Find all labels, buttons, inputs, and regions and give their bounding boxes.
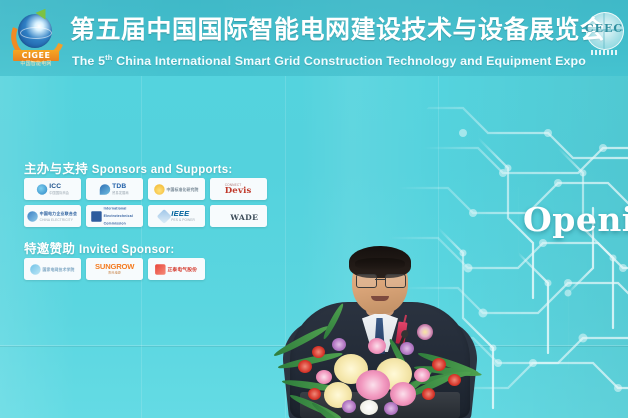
sungrow-label: SUNGROW bbox=[95, 263, 134, 271]
invited-logo-3: 正泰电气股份 bbox=[148, 258, 205, 280]
sponsor-logo-icc: ICC 中国国际商会 bbox=[24, 178, 81, 200]
flower-bloom bbox=[308, 388, 321, 400]
cigee-subtext: 中国智能电网 bbox=[16, 61, 56, 68]
flower-bloom bbox=[298, 360, 312, 373]
flower-bloom bbox=[448, 374, 461, 386]
icc-label: ICC bbox=[49, 183, 61, 191]
sponsor-logo-tdb: TDB 贸易发展局 bbox=[86, 178, 143, 200]
expo-title-ordinal: th bbox=[105, 53, 112, 62]
flower-bloom bbox=[414, 368, 430, 382]
cigee-wordmark: CIGEE bbox=[13, 50, 59, 61]
ieee-diamond-icon bbox=[156, 209, 171, 224]
sponsor-logo-devis: CONNECT Devis bbox=[210, 178, 267, 200]
invited-3-label: 正泰电气股份 bbox=[168, 265, 198, 273]
invited-heading-en: Invited Sponsor: bbox=[79, 244, 175, 256]
speaker-glasses-bridge bbox=[375, 279, 385, 280]
screenshot-root: CIGEE 中国智能电网 第五届中国国际智能电网建设技术与设备展览会 The 5… bbox=[0, 0, 628, 418]
sponsor-logo-wade: WADE bbox=[210, 205, 267, 227]
flower-bloom bbox=[312, 346, 325, 358]
flower-bloom bbox=[400, 342, 414, 355]
expo-title-english: The 5th China International Smart Grid C… bbox=[72, 49, 617, 67]
sponsor-logo-iec: International Electrotechnical Commissio… bbox=[86, 205, 143, 227]
flower-bloom bbox=[356, 370, 390, 400]
cnis-label: 中国标准化研究院 bbox=[167, 185, 199, 193]
tdb-mark-icon bbox=[100, 184, 110, 194]
icc-mark-icon bbox=[36, 184, 46, 194]
sponsors-heading: 主办与支持 Sponsors and Supports: bbox=[24, 158, 233, 177]
flower-bloom bbox=[368, 338, 386, 354]
cigee-globe-shape bbox=[18, 14, 52, 48]
tdb-label: TDB bbox=[112, 183, 126, 191]
sponsor-logo-ieee: IEEE PES & POWER bbox=[148, 205, 205, 227]
invited-logo-1: 国家电网技术学院 bbox=[24, 258, 81, 280]
invited-1-mark-icon bbox=[30, 264, 40, 274]
speaker-glasses-right-lens bbox=[385, 274, 406, 288]
sponsor-logo-cnis: 中国标准化研究院 bbox=[148, 178, 205, 200]
flower-bloom bbox=[432, 358, 446, 371]
invited-1-label: 国家电网技术学院 bbox=[43, 265, 75, 273]
cec-sublabel: CHINA ELECTRICITY bbox=[40, 218, 73, 222]
tdb-sublabel: 贸易发展局 bbox=[112, 191, 129, 195]
cec-mark-icon bbox=[28, 211, 38, 221]
icc-sublabel: 中国国际商会 bbox=[49, 191, 69, 195]
cec-label: 中国电力企业联合会 bbox=[40, 210, 78, 218]
expo-title-chinese: 第五届中国国际智能电网建设技术与设备展览会 bbox=[70, 13, 580, 46]
flower-bloom bbox=[342, 400, 356, 413]
flower-bloom bbox=[384, 402, 398, 415]
wade-label: WADE bbox=[231, 212, 259, 220]
wade-mark-icon bbox=[218, 211, 228, 221]
sponsors-heading-cn: 主办与支持 bbox=[24, 161, 88, 176]
ceec-wordmark: CEEC bbox=[582, 22, 626, 35]
cnis-mark-icon bbox=[154, 184, 164, 194]
expo-title-english-pre: The 5 bbox=[72, 54, 105, 68]
invited-heading-cn: 特邀赞助 bbox=[24, 241, 75, 256]
devis-label: Devis bbox=[225, 187, 252, 195]
ceec-base-bar bbox=[591, 50, 617, 55]
flower-arrangement bbox=[272, 330, 484, 418]
ieee-label: IEEE bbox=[171, 210, 189, 218]
ieee-sublabel: PES & POWER bbox=[171, 218, 195, 222]
flower-bloom bbox=[332, 338, 346, 351]
sponsor-logo-cec: 中国电力企业联合会 CHINA ELECTRICITY bbox=[24, 205, 81, 227]
speaker-glasses-left-lens bbox=[356, 274, 377, 288]
sungrow-sublabel: 阳光电源 bbox=[108, 271, 120, 275]
opening-overlay-text: Openi bbox=[523, 200, 628, 240]
flower-bloom bbox=[360, 400, 378, 415]
flower-bloom bbox=[316, 370, 332, 384]
iec-mark-icon bbox=[91, 211, 101, 221]
invited-logo-grid: 国家电网技术学院 SUNGROW 阳光电源 正泰电气股份 bbox=[24, 258, 214, 280]
invited-sponsor-heading: 特邀赞助 Invited Sponsor: bbox=[24, 238, 175, 257]
flower-bloom bbox=[422, 388, 435, 400]
invited-3-mark-icon bbox=[155, 264, 165, 274]
iec-label: International Electrotechnical Commissio… bbox=[104, 205, 138, 227]
expo-title-english-post: China International Smart Grid Construct… bbox=[113, 54, 586, 68]
cigee-logo-icon: CIGEE 中国智能电网 bbox=[8, 8, 64, 68]
header-banner: CIGEE 中国智能电网 第五届中国国际智能电网建设技术与设备展览会 The 5… bbox=[0, 0, 628, 76]
sponsor-logo-grid: ICC 中国国际商会 TDB 贸易发展局 中国标准化研究院 CONNECT De… bbox=[24, 178, 274, 227]
ceec-logo-icon: CEEC bbox=[582, 10, 624, 60]
speaker-mouth bbox=[371, 296, 389, 301]
sponsors-heading-en: Sponsors and Supports: bbox=[92, 164, 233, 176]
invited-logo-sungrow: SUNGROW 阳光电源 bbox=[86, 258, 143, 280]
